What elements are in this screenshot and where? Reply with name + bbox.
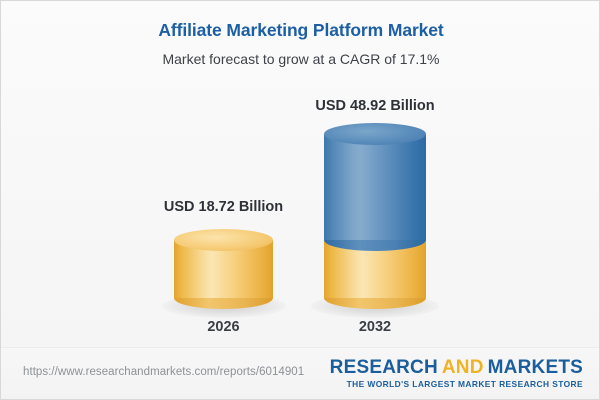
bar-cylinder-2026[interactable] <box>174 229 273 309</box>
cylinder-top-ellipse <box>174 229 273 251</box>
bar-group-2026: USD 18.72 Billion 2026 <box>174 1 273 349</box>
bar-value-label-2026: USD 18.72 Billion <box>164 199 283 215</box>
logo-wordmark: RESEARCHANDMARKETS <box>330 357 583 378</box>
logo-tagline: THE WORLD'S LARGEST MARKET RESEARCH STOR… <box>330 379 583 389</box>
report-url[interactable]: https://www.researchandmarkets.com/repor… <box>23 366 304 378</box>
research-and-markets-logo[interactable]: RESEARCHANDMARKETS THE WORLD'S LARGEST M… <box>330 357 583 389</box>
bar-group-2032: USD 48.92 Billion 2032 <box>324 1 426 349</box>
cylinder-body <box>324 134 426 240</box>
logo-word-and: AND <box>442 357 484 378</box>
bar-category-label-2032: 2032 <box>359 319 391 335</box>
chart-plot-area: USD 18.72 Billion 2026 USD 48.92 Billion <box>1 1 600 349</box>
bar-cylinder-2032-upper[interactable] <box>324 123 426 251</box>
footer-bar: https://www.researchandmarkets.com/repor… <box>1 347 600 399</box>
bar-value-label-2032: USD 48.92 Billion <box>315 98 434 114</box>
bar-category-label-2026: 2026 <box>207 319 239 335</box>
cylinder-top-ellipse <box>324 123 426 145</box>
logo-word-research: RESEARCH <box>330 357 438 378</box>
infographic-card: Affiliate Marketing Platform Market Mark… <box>0 0 600 400</box>
logo-word-markets: MARKETS <box>488 357 583 378</box>
